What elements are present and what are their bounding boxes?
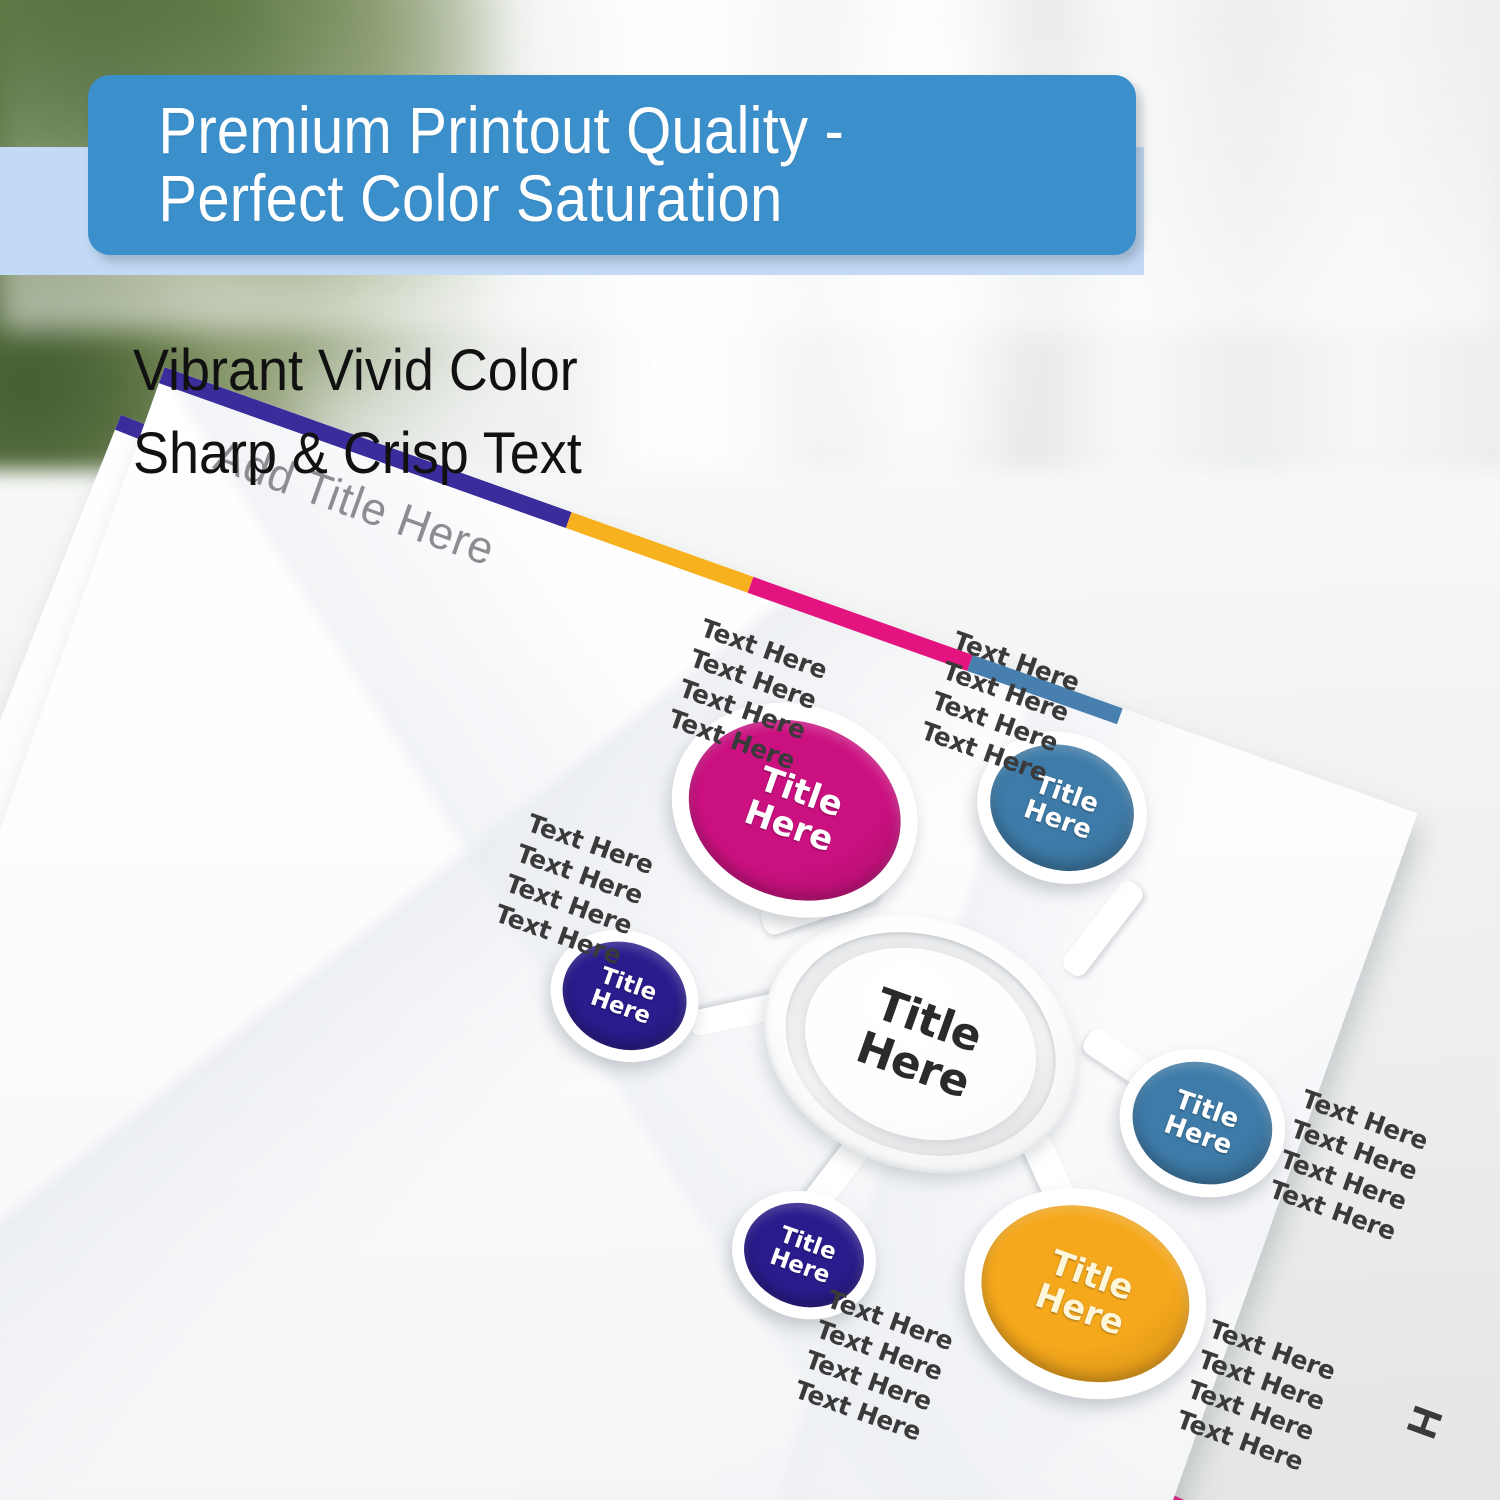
diagram-connector: [1059, 877, 1147, 980]
node-label: Title Here: [1030, 1245, 1140, 1343]
node-disc: Title Here: [1115, 1043, 1289, 1204]
bottom-right-partial-title: H: [1396, 1400, 1452, 1446]
hub-label: Title Here: [850, 981, 991, 1108]
diagram-text-block-right-lower: Text Here Text Here Text Here Text Here: [1172, 1313, 1403, 1500]
subheadline-text: Vibrant Vivid Color Sharp & Crisp Text: [133, 330, 840, 496]
diagram-text-block-right-upper: Text Here Text Here Text Here Text Here: [1265, 1083, 1496, 1271]
headline-banner: Premium Printout Quality - Perfect Color…: [88, 75, 1136, 255]
headline-text: Premium Printout Quality - Perfect Color…: [88, 97, 844, 233]
node-label: Title Here: [1160, 1086, 1244, 1161]
product-marketing-image: AAdd Title HereHTitle HereTitle HereTitl…: [0, 0, 1500, 1500]
hub-inner: Title Here: [778, 917, 1063, 1171]
node-label: Title Here: [767, 1222, 841, 1288]
diagram-text-block-top-center: Text Here Text Here Text Here Text Here: [917, 625, 1139, 809]
